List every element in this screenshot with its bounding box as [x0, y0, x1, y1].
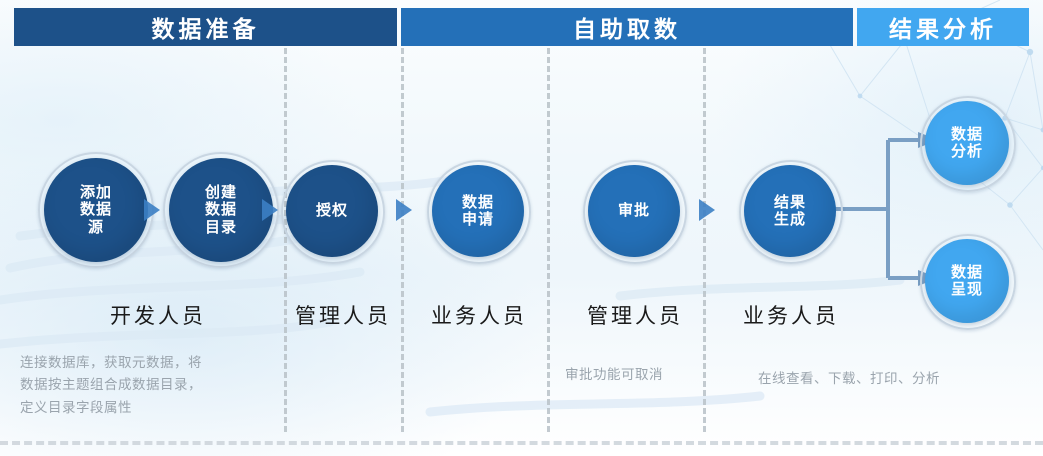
- note-line: 数据按主题组合成数据目录，: [20, 374, 270, 396]
- divider-2: [401, 48, 404, 432]
- node-label-line: 目录: [205, 219, 237, 236]
- node-label-line: 数据: [951, 264, 983, 281]
- role-manager-1: 管理人员: [288, 300, 398, 330]
- note-result: 在线查看、下载、打印、分析: [758, 368, 998, 390]
- node-label-line: 数据: [951, 126, 983, 143]
- node-label-line: 数据: [462, 194, 494, 211]
- arrow-step-1-to-2: [144, 199, 160, 221]
- note-line: 在线查看、下载、打印、分析: [758, 368, 998, 390]
- stage-header-data-preparation[interactable]: 数据准备: [14, 8, 397, 46]
- stage-header-result-analysis[interactable]: 结果分析: [857, 8, 1029, 46]
- node-label-line: 源: [80, 219, 112, 236]
- node-authorize[interactable]: 授权: [281, 160, 385, 264]
- node-data-request[interactable]: 数据 申请: [427, 160, 531, 264]
- arrow-step-5-to-6: [699, 199, 715, 221]
- node-label-line: 申请: [462, 211, 494, 228]
- node-label-line: 结果: [774, 194, 806, 211]
- note-line: 连接数据库，获取元数据，将: [20, 352, 270, 374]
- bottom-dashed-rule: [0, 441, 1043, 445]
- note-approval: 审批功能可取消: [565, 364, 725, 386]
- arrow-step-2-to-3: [262, 199, 278, 221]
- role-manager-2: 管理人员: [580, 300, 690, 330]
- node-data-analysis[interactable]: 数据 分析: [920, 96, 1016, 192]
- stage-header-self-service-query[interactable]: 自助取数: [401, 8, 853, 46]
- node-label-line: 数据: [80, 201, 112, 218]
- node-add-data-source[interactable]: 添加 数据 源: [38, 152, 154, 268]
- node-result-generate[interactable]: 结果 生成: [739, 160, 843, 264]
- node-label-line: 审批: [618, 202, 650, 219]
- node-data-presentation[interactable]: 数据 呈现: [920, 234, 1016, 330]
- role-developer: 开发人员: [48, 300, 268, 330]
- role-business-1: 业务人员: [424, 300, 534, 330]
- note-data-preparation: 连接数据库，获取元数据，将 数据按主题组合成数据目录， 定义目录字段属性: [20, 352, 270, 419]
- role-business-2: 业务人员: [736, 300, 846, 330]
- node-label-line: 分析: [951, 143, 983, 160]
- divider-1: [284, 48, 287, 432]
- node-label-line: 数据: [205, 201, 237, 218]
- note-line: 定义目录字段属性: [20, 397, 270, 419]
- node-label-line: 授权: [316, 202, 348, 219]
- node-approval[interactable]: 审批: [583, 160, 687, 264]
- node-label-line: 呈现: [951, 281, 983, 298]
- node-label-line: 创建: [205, 184, 237, 201]
- node-label-line: 生成: [774, 211, 806, 228]
- divider-3: [547, 48, 550, 432]
- note-line: 审批功能可取消: [565, 364, 725, 386]
- flow-diagram: 数据准备 自助取数 结果分析 添加 数据 源: [0, 0, 1043, 456]
- node-label-line: 添加: [80, 184, 112, 201]
- arrow-step-3-to-4: [396, 199, 412, 221]
